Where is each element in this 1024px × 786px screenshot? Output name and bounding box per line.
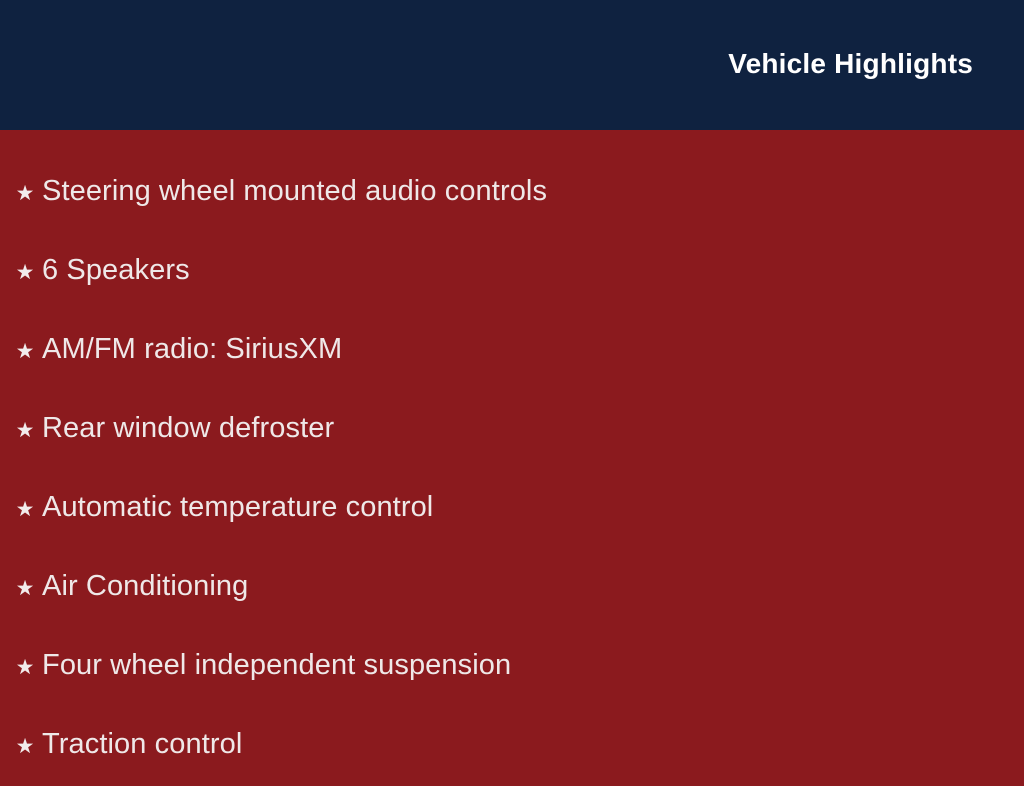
- list-item: ★ Four wheel independent suspension: [8, 626, 984, 705]
- list-item-label: Four wheel independent suspension: [42, 626, 511, 705]
- vehicle-highlights-slide: Vehicle Highlights ★ Steering wheel moun…: [0, 0, 1024, 768]
- list-item: ★ Steering wheel mounted audio controls: [8, 152, 984, 231]
- star-icon: ★: [8, 549, 42, 628]
- highlights-list: ★ Steering wheel mounted audio controls …: [8, 152, 984, 784]
- star-icon: ★: [8, 312, 42, 391]
- list-item: ★ Rear window defroster: [8, 389, 984, 468]
- star-icon: ★: [8, 470, 42, 549]
- list-item: ★ Air Conditioning: [8, 547, 984, 626]
- list-item: ★ Traction control: [8, 705, 984, 784]
- list-item-label: Steering wheel mounted audio controls: [42, 152, 547, 231]
- list-item-label: Air Conditioning: [42, 547, 248, 626]
- star-icon: ★: [8, 233, 42, 312]
- list-item: ★ 6 Speakers: [8, 231, 984, 310]
- star-icon: ★: [8, 391, 42, 470]
- star-icon: ★: [8, 154, 42, 233]
- list-item-label: Rear window defroster: [42, 389, 334, 468]
- star-icon: ★: [8, 628, 42, 707]
- slide-header: Vehicle Highlights: [0, 0, 1024, 130]
- list-item: ★ Automatic temperature control: [8, 468, 984, 547]
- page-title: Vehicle Highlights: [728, 49, 973, 80]
- list-item-label: 6 Speakers: [42, 231, 190, 310]
- list-item-label: Traction control: [42, 705, 242, 784]
- slide-body: ★ Steering wheel mounted audio controls …: [0, 130, 1024, 784]
- list-item-label: Automatic temperature control: [42, 468, 433, 547]
- list-item-label: AM/FM radio: SiriusXM: [42, 310, 342, 389]
- list-item: ★ AM/FM radio: SiriusXM: [8, 310, 984, 389]
- star-icon: ★: [8, 707, 42, 786]
